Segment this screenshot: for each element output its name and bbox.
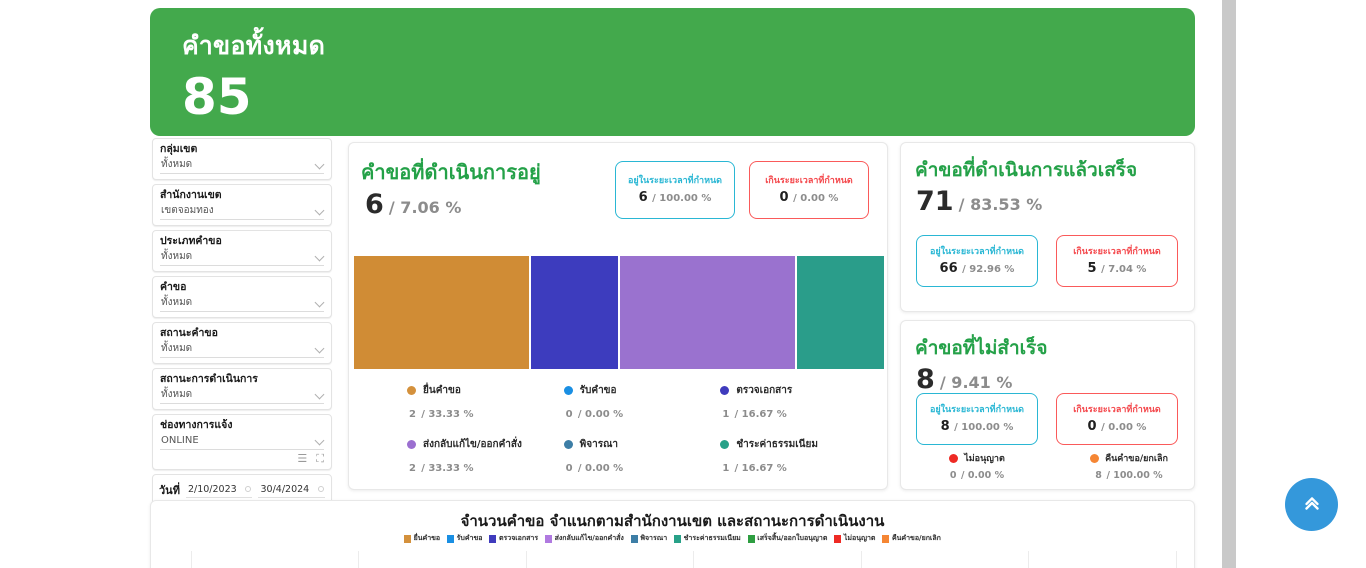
- unsuccessful-percent: / 9.41 %: [940, 373, 1013, 392]
- legend-swatch: [882, 535, 889, 543]
- legend-swatch: [748, 535, 755, 543]
- calendar-icon: [318, 486, 324, 492]
- filter-select[interactable]: ทั้งหมด: [160, 340, 324, 358]
- legend-label: รับคำขอ: [457, 533, 483, 544]
- chart-legend-item[interactable]: ชำระค่าธรรมเนียม: [674, 533, 741, 544]
- legend-label: ส่งกลับแก้ไข/ออกคำสั่ง: [423, 437, 522, 452]
- legend-label: ยื่นคำขอ: [414, 533, 441, 544]
- chevron-down-icon: [315, 160, 325, 170]
- unsuccessful-ontime-badge: อยู่ในระยะเวลาที่กำหนด 8 / 100.00 %: [916, 393, 1038, 445]
- chart-legend-item[interactable]: รับคำขอ: [447, 533, 482, 544]
- completed-ontime-badge: อยู่ในระยะเวลาที่กำหนด 66 / 92.96 %: [916, 235, 1038, 287]
- filter-value: เขตจอมทอง: [161, 205, 214, 216]
- status-legend: ยื่นคำขอ2 / 33.33 %รับคำขอ0 / 0.00 %ตรวจ…: [407, 383, 877, 475]
- unsuccessful-value: 8: [916, 364, 935, 395]
- sub-status-item: คืนคำขอ/ยกเลิก8 / 100.00 %: [1068, 451, 1190, 482]
- chart-legend-item[interactable]: คืนคำขอ/ยกเลิก: [882, 533, 940, 544]
- filter-label: สำนักงานเขต: [160, 189, 324, 202]
- chevron-down-icon: [315, 436, 325, 446]
- chevron-down-icon: [315, 344, 325, 354]
- calendar-icon: [245, 486, 251, 492]
- completed-value: 71: [916, 186, 954, 217]
- legend-swatch: [447, 535, 454, 543]
- filter-label: สถานะการดำเนินการ: [160, 373, 324, 386]
- legend-item: ชำระค่าธรรมเนียม1 / 16.67 %: [720, 437, 877, 475]
- legend-item: รับคำขอ0 / 0.00 %: [564, 383, 721, 421]
- filter-icon[interactable]: ☰: [297, 454, 307, 464]
- filter-label: ช่องทางการแจ้ง: [160, 419, 324, 432]
- filter-select[interactable]: ทั้งหมด: [160, 386, 324, 404]
- filter-select[interactable]: ทั้งหมด: [160, 156, 324, 174]
- chart-legend-item[interactable]: ไม่อนุญาต: [834, 533, 875, 544]
- legend-value: 0 / 0.00 %: [566, 403, 721, 421]
- page-scrollbar[interactable]: [1215, 0, 1366, 568]
- date-label: วันที่: [159, 481, 180, 499]
- district-chart-legend: ยื่นคำขอรับคำขอตรวจเอกสารส่งกลับแก้ไข/ออ…: [151, 533, 1194, 544]
- filter-5: สถานะคำขอทั้งหมด: [152, 322, 332, 364]
- badge-label: เกินระยะเวลาที่กำหนด: [765, 175, 853, 187]
- filter-value: ONLINE: [161, 435, 199, 446]
- filter-sidebar: กลุ่มเขตทั้งหมดสำนักงานเขตเขตจอมทองประเภ…: [152, 138, 332, 536]
- bar-segment: [531, 256, 618, 369]
- status-label: คืนคำขอ/ยกเลิก: [1105, 451, 1168, 465]
- chart-legend-item[interactable]: ยื่นคำขอ: [404, 533, 440, 544]
- badge-value: 0 / 0.00 %: [1088, 419, 1147, 434]
- in-progress-card: คำขอที่ดำเนินการอยู่ 6 / 7.06 % อยู่ในระ…: [348, 142, 888, 490]
- date-to-value: 30/4/2024: [260, 484, 309, 495]
- filter-label: คำขอ: [160, 281, 324, 294]
- banner-title: คำขอทั้งหมด: [182, 26, 1195, 66]
- filter-value: ทั้งหมด: [161, 159, 192, 170]
- district-chart-title: จำนวนคำขอ จำแนกตามสำนักงานเขต และสถานะกา…: [151, 509, 1194, 533]
- legend-dot: [564, 440, 573, 449]
- unsuccessful-title: คำขอที่ไม่สำเร็จ: [915, 333, 1047, 363]
- filter-3: ประเภทคำขอทั้งหมด: [152, 230, 332, 272]
- in-progress-value: 6: [365, 189, 384, 220]
- legend-value: 2 / 33.33 %: [409, 457, 564, 475]
- status-value: 0 / 0.00 %: [916, 467, 1038, 482]
- bar-segment: [354, 256, 529, 369]
- status-dot: [1090, 454, 1099, 463]
- legend-swatch: [545, 535, 552, 543]
- status-value: 8 / 100.00 %: [1068, 467, 1190, 482]
- status-stacked-bar: [354, 256, 884, 369]
- double-chevron-up-icon: [1301, 492, 1323, 517]
- bar-segment: [620, 256, 795, 369]
- legend-label: พิจารณา: [640, 533, 667, 544]
- unsuccessful-stat: 8 / 9.41 %: [916, 364, 1012, 395]
- legend-label: ส่งกลับแก้ไข/ออกคำสั่ง: [555, 533, 624, 544]
- unsuccessful-sub-items: ไม่อนุญาต0 / 0.00 %คืนคำขอ/ยกเลิก8 / 100…: [916, 451, 1190, 482]
- in-progress-overdue-badge: เกินระยะเวลาที่กำหนด 0 / 0.00 %: [749, 161, 869, 219]
- scroll-to-top-button[interactable]: [1285, 478, 1338, 531]
- legend-label: รับคำขอ: [580, 383, 617, 398]
- date-to-input[interactable]: 30/4/2024: [258, 483, 325, 498]
- filter-label: กลุ่มเขต: [160, 143, 324, 156]
- chart-gridline: [861, 551, 862, 568]
- chevron-down-icon: [315, 298, 325, 308]
- in-progress-percent: / 7.06 %: [389, 198, 462, 217]
- filter-select[interactable]: เขตจอมทอง: [160, 202, 324, 220]
- filter-7: ช่องทางการแจ้งONLINE☰⛶: [152, 414, 332, 470]
- legend-swatch: [674, 535, 681, 543]
- district-chart-plot: [191, 551, 1176, 568]
- chart-gridline: [358, 551, 359, 568]
- legend-value: 1 / 16.67 %: [722, 457, 877, 475]
- banner-value: 85: [182, 72, 1195, 122]
- badge-value: 5 / 7.04 %: [1088, 261, 1147, 276]
- status-dot: [949, 454, 958, 463]
- dashboard-page: คำขอทั้งหมด 85 กลุ่มเขตทั้งหมดสำนักงานเข…: [0, 0, 1366, 568]
- legend-label: เสร็จสิ้น/ออกใบอนุญาต: [757, 533, 827, 544]
- filter-select[interactable]: ทั้งหมด: [160, 248, 324, 266]
- filter-select[interactable]: ทั้งหมด: [160, 294, 324, 312]
- chevron-down-icon: [315, 206, 325, 216]
- legend-dot: [407, 440, 416, 449]
- legend-value: 1 / 16.67 %: [722, 403, 877, 421]
- completed-percent: / 83.53 %: [959, 195, 1043, 214]
- legend-swatch: [489, 535, 496, 543]
- legend-item: ยื่นคำขอ2 / 33.33 %: [407, 383, 564, 421]
- completed-badges: อยู่ในระยะเวลาที่กำหนด 66 / 92.96 % เกิน…: [916, 235, 1178, 287]
- chart-gridline: [191, 551, 192, 568]
- sub-status-item: ไม่อนุญาต0 / 0.00 %: [916, 451, 1038, 482]
- in-progress-ontime-badge: อยู่ในระยะเวลาที่กำหนด 6 / 100.00 %: [615, 161, 735, 219]
- bar-segment: [797, 256, 884, 369]
- scrollbar-thumb[interactable]: [1222, 0, 1236, 568]
- in-progress-stat: 6 / 7.06 %: [365, 189, 461, 220]
- legend-dot: [407, 386, 416, 395]
- legend-label: ชำระค่าธรรมเนียม: [736, 437, 818, 452]
- legend-label: ตรวจเอกสาร: [499, 533, 538, 544]
- legend-label: ไม่อนุญาต: [844, 533, 876, 544]
- select-tools: ☰⛶: [160, 450, 324, 464]
- district-status-chart-card: จำนวนคำขอ จำแนกตามสำนักงานเขต และสถานะกา…: [150, 500, 1195, 568]
- legend-value: 0 / 0.00 %: [566, 457, 721, 475]
- date-from-input[interactable]: 2/10/2023: [186, 483, 253, 498]
- badge-value: 6 / 100.00 %: [639, 190, 712, 205]
- filter-label: ประเภทคำขอ: [160, 235, 324, 248]
- badge-value: 66 / 92.96 %: [940, 261, 1015, 276]
- badge-label: เกินระยะเวลาที่กำหนด: [1073, 246, 1161, 258]
- completed-card: คำขอที่ดำเนินการแล้วเสร็จ 71 / 83.53 % อ…: [900, 142, 1195, 312]
- completed-title: คำขอที่ดำเนินการแล้วเสร็จ: [915, 155, 1137, 185]
- legend-dot: [720, 440, 729, 449]
- filter-2: สำนักงานเขตเขตจอมทอง: [152, 184, 332, 226]
- total-requests-banner: คำขอทั้งหมด 85: [150, 8, 1195, 136]
- badge-label: อยู่ในระยะเวลาที่กำหนด: [930, 404, 1024, 416]
- filter-select[interactable]: ONLINE: [160, 432, 324, 450]
- chart-legend-item[interactable]: ตรวจเอกสาร: [489, 533, 538, 544]
- legend-label: พิจารณา: [580, 437, 618, 452]
- badge-value: 0 / 0.00 %: [780, 190, 839, 205]
- legend-dot: [720, 386, 729, 395]
- legend-value: 2 / 33.33 %: [409, 403, 564, 421]
- filter-value: ทั้งหมด: [161, 343, 192, 354]
- chart-legend-item[interactable]: พิจารณา: [631, 533, 667, 544]
- unsuccessful-badges: อยู่ในระยะเวลาที่กำหนด 8 / 100.00 % เกิน…: [916, 393, 1178, 445]
- legend-swatch: [834, 535, 841, 543]
- legend-item: ส่งกลับแก้ไข/ออกคำสั่ง2 / 33.33 %: [407, 437, 564, 475]
- filter-6: สถานะการดำเนินการทั้งหมด: [152, 368, 332, 410]
- chart-legend-item[interactable]: เสร็จสิ้น/ออกใบอนุญาต: [748, 533, 828, 544]
- filter-label: สถานะคำขอ: [160, 327, 324, 340]
- badge-label: เกินระยะเวลาที่กำหนด: [1073, 404, 1161, 416]
- unsuccessful-overdue-badge: เกินระยะเวลาที่กำหนด 0 / 0.00 %: [1056, 393, 1178, 445]
- filter-value: ทั้งหมด: [161, 389, 192, 400]
- badge-value: 8 / 100.00 %: [941, 419, 1014, 434]
- chart-gridline: [693, 551, 694, 568]
- chevron-down-icon: [315, 390, 325, 400]
- legend-dot: [564, 386, 573, 395]
- date-from-value: 2/10/2023: [188, 484, 237, 495]
- status-label: ไม่อนุญาต: [964, 451, 1005, 465]
- in-progress-title: คำขอที่ดำเนินการอยู่: [361, 156, 541, 188]
- chart-legend-item[interactable]: ส่งกลับแก้ไข/ออกคำสั่ง: [545, 533, 624, 544]
- unsuccessful-card: คำขอที่ไม่สำเร็จ 8 / 9.41 % อยู่ในระยะเว…: [900, 320, 1195, 490]
- legend-swatch: [404, 535, 411, 543]
- expand-icon[interactable]: ⛶: [316, 454, 324, 464]
- chevron-down-icon: [315, 252, 325, 262]
- completed-overdue-badge: เกินระยะเวลาที่กำหนด 5 / 7.04 %: [1056, 235, 1178, 287]
- chart-gridline: [526, 551, 527, 568]
- chart-gridline: [1028, 551, 1029, 568]
- completed-stat: 71 / 83.53 %: [916, 186, 1042, 217]
- chart-gridline: [1176, 551, 1177, 568]
- legend-label: คืนคำขอ/ยกเลิก: [892, 533, 941, 544]
- badge-label: อยู่ในระยะเวลาที่กำหนด: [628, 175, 722, 187]
- legend-label: ยื่นคำขอ: [423, 383, 461, 398]
- badge-label: อยู่ในระยะเวลาที่กำหนด: [930, 246, 1024, 258]
- legend-swatch: [631, 535, 638, 543]
- legend-label: ตรวจเอกสาร: [736, 383, 792, 398]
- legend-label: ชำระค่าธรรมเนียม: [684, 533, 741, 544]
- legend-item: พิจารณา0 / 0.00 %: [564, 437, 721, 475]
- filter-value: ทั้งหมด: [161, 251, 192, 262]
- filter-4: คำขอทั้งหมด: [152, 276, 332, 318]
- filter-value: ทั้งหมด: [161, 297, 192, 308]
- filter-1: กลุ่มเขตทั้งหมด: [152, 138, 332, 180]
- legend-item: ตรวจเอกสาร1 / 16.67 %: [720, 383, 877, 421]
